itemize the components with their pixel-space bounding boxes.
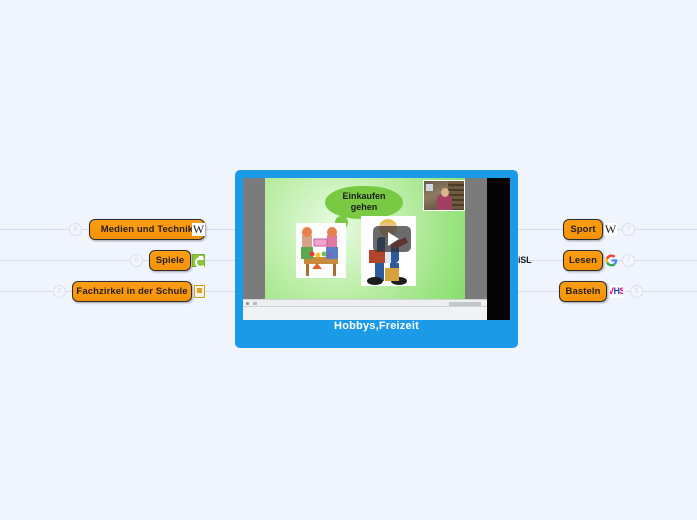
connector-line: [631, 260, 697, 261]
letterbox-right-gray: [465, 178, 487, 299]
clipart-market-stall: [296, 223, 346, 278]
connector-line: [205, 260, 235, 261]
google-icon[interactable]: [605, 254, 618, 267]
play-button[interactable]: [373, 226, 411, 252]
node-medien-und-technik[interactable]: Medien und Technik: [89, 219, 205, 240]
player-footer-strip: [243, 307, 487, 320]
connector-line: [518, 229, 563, 230]
letterbox-right-black: [487, 178, 510, 320]
thought-bubble: Einkaufen gehen: [325, 186, 403, 219]
document-icon[interactable]: [193, 285, 206, 298]
connector-line: [82, 229, 89, 230]
wikipedia-icon[interactable]: W: [604, 223, 617, 236]
connector-line: [0, 260, 129, 261]
google-icon-glyph: [605, 254, 618, 267]
central-video-card[interactable]: Einkaufen gehen: [235, 170, 518, 348]
video-caption: Hobbys,Freizeit: [235, 320, 518, 332]
node-label: Medien und Technik: [101, 224, 193, 235]
video-frame[interactable]: Einkaufen gehen: [243, 178, 510, 320]
wikipedia-icon[interactable]: W: [192, 223, 205, 236]
webcam-overlay: [423, 180, 465, 211]
vhs-icon[interactable]: VHS: [610, 285, 623, 298]
mindmap-canvas: 8 Medien und Technik W 6 Spiele 2 Fachzi…: [0, 0, 697, 520]
toggle-medien-und-technik[interactable]: 8: [69, 223, 82, 236]
wikipedia-icon-glyph: W: [192, 223, 205, 236]
connector-line: [518, 291, 563, 292]
wikipedia-icon-glyph: W: [604, 223, 617, 236]
node-label: Sport: [570, 224, 595, 235]
webcam-person-head: [441, 188, 449, 197]
node-spiele[interactable]: Spiele: [149, 250, 191, 271]
green-app-icon-glyph: [192, 254, 205, 267]
slide-scrollbar[interactable]: [243, 299, 487, 307]
node-label: Fachzirkel in der Schule: [76, 286, 187, 297]
thought-bubble-line1: Einkaufen: [325, 191, 403, 202]
connector-line: [0, 229, 69, 230]
connector-line: [639, 291, 697, 292]
green-app-icon[interactable]: [192, 254, 205, 267]
scrollbar-marker: [253, 302, 257, 305]
node-basteln[interactable]: Basteln: [559, 281, 607, 302]
connector-line: [205, 291, 235, 292]
node-fachzirkel-in-der-schule[interactable]: Fachzirkel in der Schule: [72, 281, 192, 302]
toggle-fachzirkel-in-der-schule[interactable]: 2: [53, 285, 66, 298]
letterbox-left: [243, 178, 265, 299]
node-label: Basteln: [565, 286, 600, 297]
clipart-market-stall-art: [296, 223, 346, 278]
thought-bubble-line2: gehen: [325, 202, 403, 213]
node-sport[interactable]: Sport: [563, 219, 603, 240]
occluded-branch-label: iSL: [518, 255, 531, 265]
play-icon: [388, 232, 399, 246]
presentation-slide: Einkaufen gehen: [265, 178, 465, 299]
scrollbar-thumb[interactable]: [449, 302, 481, 306]
document-icon-glyph: [194, 285, 205, 298]
toggle-spiele[interactable]: 6: [130, 254, 143, 267]
node-label: Lesen: [569, 255, 597, 266]
connector-line: [205, 229, 235, 230]
connector-line: [631, 229, 697, 230]
toggle-sport[interactable]: 7: [622, 223, 635, 236]
node-label: Spiele: [156, 255, 185, 266]
vhs-icon-glyph: VHS: [610, 286, 623, 297]
node-lesen[interactable]: Lesen: [563, 250, 603, 271]
toggle-lesen[interactable]: 7: [622, 254, 635, 267]
scrollbar-dot-left: [246, 302, 249, 305]
webcam-lamp: [426, 184, 433, 191]
connector-line: [0, 291, 52, 292]
toggle-basteln[interactable]: 5: [630, 285, 643, 298]
